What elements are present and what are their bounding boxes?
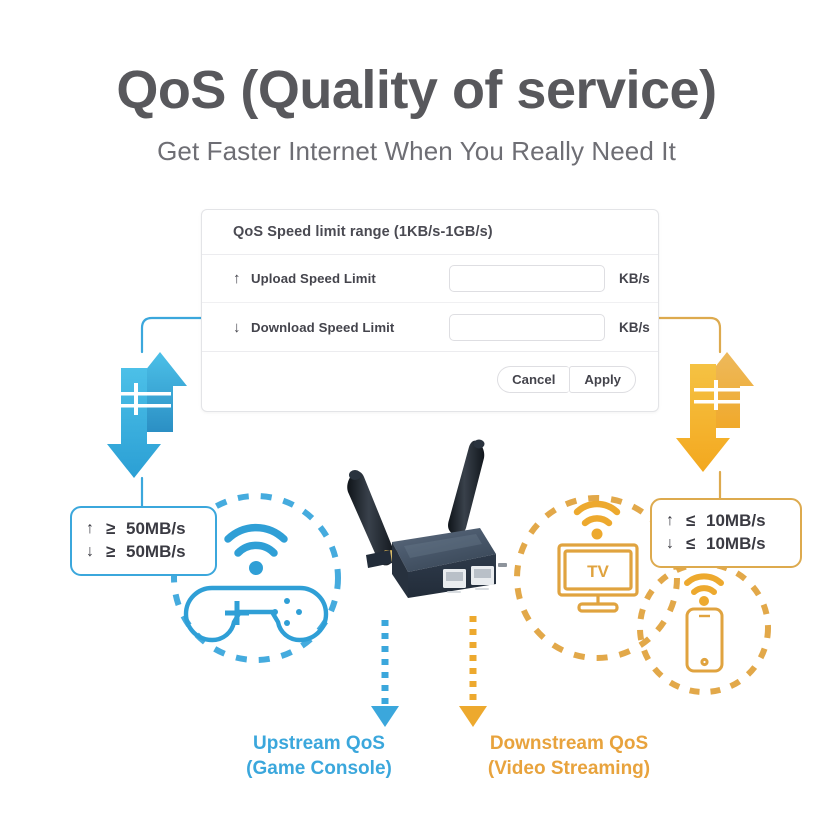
arrow-down-icon: ↓ (233, 320, 251, 335)
upstream-caption-title: Upstream QoS (208, 731, 430, 756)
greater-equal-icon: ≥ (106, 517, 126, 540)
qos-speed-limit-dialog: QoS Speed limit range (1KB/s-1GB/s) ↑ Up… (201, 209, 659, 412)
dialog-footer: Cancel Apply (202, 351, 658, 407)
upstream-badge-line-1: ↑ ≥ 50MB/s (86, 517, 201, 540)
wifi-icon-gamepad (228, 528, 284, 575)
upstream-caption: Upstream QoS (Game Console) (208, 731, 430, 781)
upload-speed-label: Upload Speed Limit (251, 271, 449, 286)
upload-speed-unit: KB/s (619, 271, 650, 286)
tv-monitor-icon (559, 545, 637, 611)
smartphone-cluster (640, 564, 768, 692)
download-speed-row: ↓ Download Speed Limit KB/s (202, 303, 658, 351)
downstream-up-value: 10MB/s (706, 509, 766, 532)
download-speed-input[interactable] (449, 314, 605, 341)
apply-button[interactable]: Apply (569, 366, 636, 393)
downstream-caption-sub: (Video Streaming) (450, 756, 688, 781)
download-speed-label: Download Speed Limit (251, 320, 449, 335)
page-subtitle: Get Faster Internet When You Really Need… (0, 136, 833, 167)
less-equal-icon: ≤ (686, 509, 706, 532)
upstream-down-value: 50MB/s (126, 540, 186, 563)
arrow-down-icon: ↓ (86, 541, 106, 563)
page-title: QoS (Quality of service) (0, 62, 833, 119)
downstream-badge-line-2: ↓ ≤ 10MB/s (666, 532, 786, 555)
downstream-caption: Downstream QoS (Video Streaming) (450, 731, 688, 781)
downstream-speed-badge: ↑ ≤ 10MB/s ↓ ≤ 10MB/s (650, 498, 802, 568)
less-equal-icon: ≤ (686, 532, 706, 555)
arrow-up-icon: ↑ (86, 518, 106, 540)
tv-label: TV (587, 562, 609, 581)
device-icons-layer: TV (0, 0, 833, 833)
download-speed-unit: KB/s (619, 320, 650, 335)
smartphone-icon (687, 609, 722, 671)
connector-diagram (0, 0, 833, 833)
arrow-down-icon: ↓ (666, 533, 686, 555)
upload-speed-row: ↑ Upload Speed Limit KB/s (202, 255, 658, 303)
cancel-button[interactable]: Cancel (497, 366, 569, 393)
upstream-caption-sub: (Game Console) (208, 756, 430, 781)
arrow-up-icon: ↑ (666, 510, 686, 532)
wifi-icon-tv (577, 504, 617, 540)
upstream-speed-badge: ↑ ≥ 50MB/s ↓ ≥ 50MB/s (70, 506, 217, 576)
upstream-badge-line-2: ↓ ≥ 50MB/s (86, 540, 201, 563)
greater-equal-icon: ≥ (106, 540, 126, 563)
upstream-dashed-arrow-icon (371, 620, 399, 727)
downstream-down-value: 10MB/s (706, 532, 766, 555)
downstream-dashed-arrow-icon (459, 616, 487, 727)
router-device-icon (330, 432, 510, 612)
dialog-header-title: QoS Speed limit range (1KB/s-1GB/s) (202, 210, 658, 255)
upstream-up-value: 50MB/s (126, 517, 186, 540)
upload-speed-input[interactable] (449, 265, 605, 292)
downstream-badge-line-1: ↑ ≤ 10MB/s (666, 509, 786, 532)
arrow-up-icon: ↑ (233, 271, 251, 286)
downstream-caption-title: Downstream QoS (450, 731, 688, 756)
router-antenna-right (448, 440, 484, 536)
gamepad-icon (186, 588, 326, 640)
downstream-arrows-icon (676, 352, 754, 472)
upstream-arrows-icon (107, 352, 187, 478)
wifi-icon-phone (687, 576, 721, 606)
